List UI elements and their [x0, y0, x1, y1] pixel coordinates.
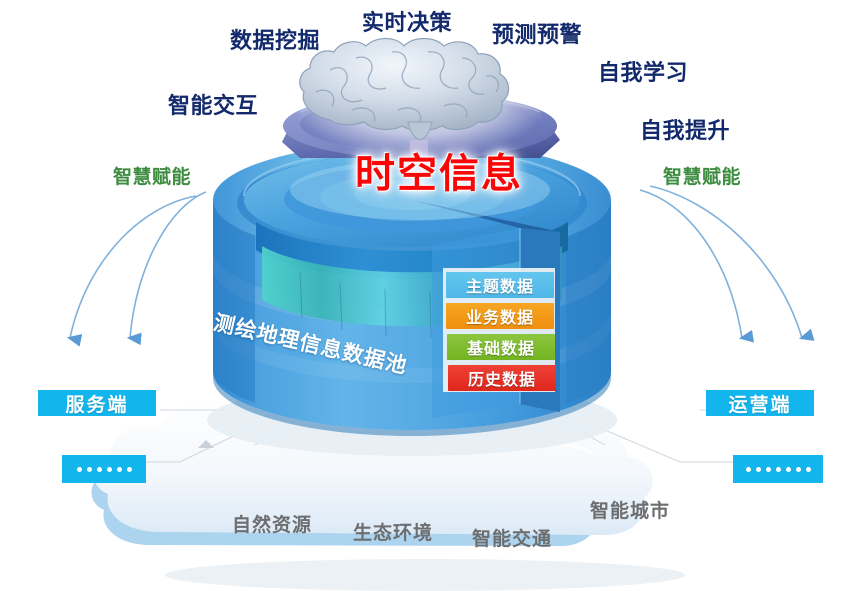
dot-icon [776, 467, 781, 472]
domain-label-smart-city: 智能城市 [590, 496, 670, 523]
capability-label-realtime-decision: 实时决策 [362, 12, 452, 34]
dot-icon [77, 467, 82, 472]
data-band-basic: 基础数据 [447, 334, 555, 360]
capability-label-intelligent-interaction: 智能交互 [168, 95, 258, 117]
data-band-theme: 主题数据 [446, 272, 554, 298]
data-band-business: 业务数据 [446, 303, 554, 329]
capability-label-predictive-warning: 预测预警 [492, 24, 582, 46]
endpoint-chip-service[interactable]: 服务端 [38, 390, 156, 416]
dot-icon [766, 467, 771, 472]
dot-icon [796, 467, 801, 472]
spatiotemporal-information-diagram: 智能交互 数据挖掘 实时决策 预测预警 自我学习 自我提升 智慧赋能 智慧赋能 … [0, 0, 850, 591]
domain-label-smart-transport: 智能交通 [472, 524, 552, 551]
dot-icon [746, 467, 751, 472]
capability-label-data-mining: 数据挖掘 [230, 30, 320, 52]
endpoint-chip-operations[interactable]: 运营端 [706, 390, 814, 416]
domain-label-natural-resources: 自然资源 [232, 510, 312, 537]
capability-label-self-learning: 自我学习 [598, 62, 688, 84]
dot-icon [117, 467, 122, 472]
dot-icon [756, 467, 761, 472]
empowerment-label-right: 智慧赋能 [663, 168, 741, 187]
curved-arrow-icon [70, 192, 206, 338]
operations-detail-box[interactable] [733, 455, 823, 483]
dot-icon [786, 467, 791, 472]
dot-icon [806, 467, 811, 472]
diagram-illustration [0, 0, 850, 591]
curved-arrow-icon [640, 186, 802, 338]
data-band-historical: 历史数据 [448, 365, 556, 391]
dot-icon [87, 467, 92, 472]
page-title: 时空信息 [355, 154, 523, 194]
dot-icon [107, 467, 112, 472]
brain-icon [290, 39, 550, 159]
dot-icon [97, 467, 102, 472]
empowerment-label-left: 智慧赋能 [113, 168, 191, 187]
domain-label-eco-environment: 生态环境 [353, 518, 433, 545]
capability-label-self-improvement: 自我提升 [640, 120, 730, 142]
dot-icon [127, 467, 132, 472]
service-detail-box[interactable] [62, 455, 146, 483]
